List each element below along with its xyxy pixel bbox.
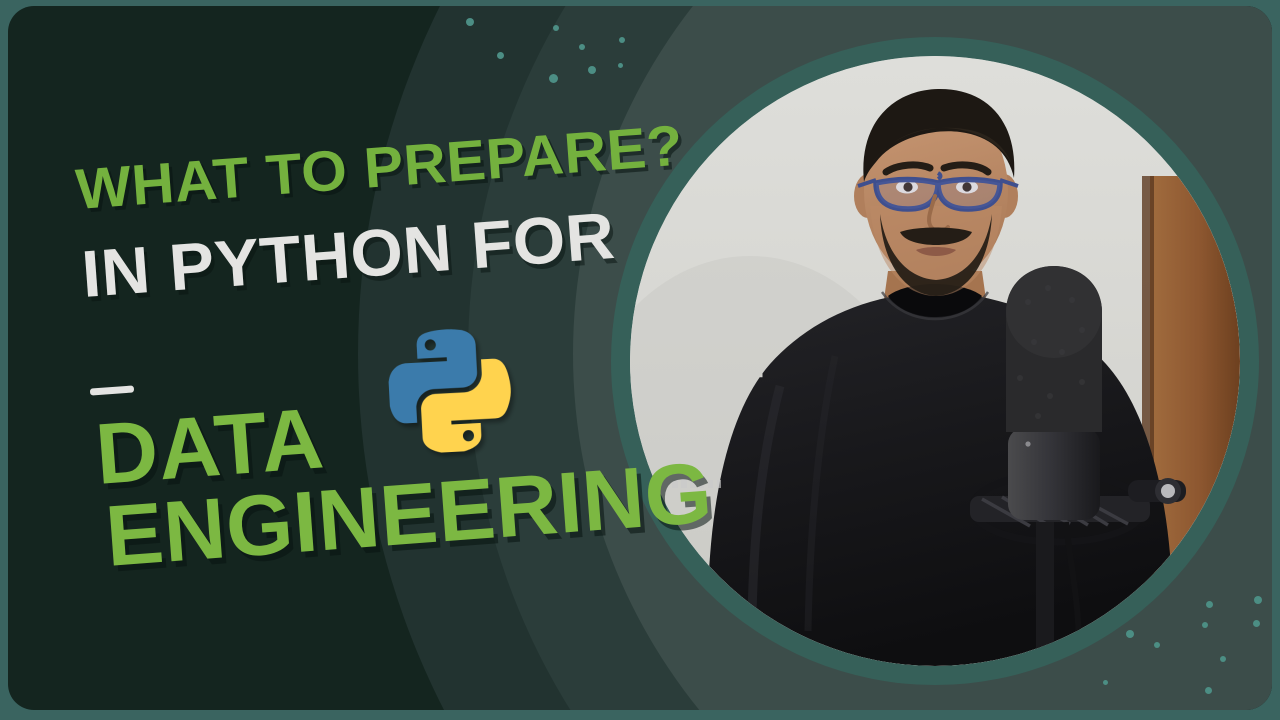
- decorative-dot: [1103, 680, 1108, 685]
- decorative-dot: [1205, 687, 1212, 694]
- python-logo: [386, 321, 515, 455]
- decorative-dot: [553, 25, 559, 31]
- thumbnail-panel: WHAT TO PREPARE? IN PYTHON FOR DATA ENGI…: [8, 6, 1272, 710]
- headline-line-1: WHAT TO PREPARE?: [74, 120, 685, 217]
- presenter-photo: [630, 56, 1240, 666]
- dash-separator: [90, 385, 134, 395]
- decorative-dot: [1202, 622, 1208, 628]
- headline-line-2: IN PYTHON FOR: [80, 205, 617, 305]
- decorative-dot: [1254, 596, 1262, 604]
- thumbnail-canvas: WHAT TO PREPARE? IN PYTHON FOR DATA ENGI…: [0, 0, 1280, 720]
- headline-block: WHAT TO PREPARE? IN PYTHON FOR DATA ENGI…: [8, 6, 668, 710]
- decorative-dot: [1126, 630, 1134, 638]
- decorative-dot: [618, 63, 623, 68]
- decorative-dot: [497, 52, 504, 59]
- decorative-dot: [1154, 642, 1160, 648]
- headline-line-4: ENGINEERING: [103, 454, 715, 577]
- decorative-dot: [1253, 620, 1260, 627]
- decorative-dot: [549, 74, 558, 83]
- decorative-dot: [619, 37, 625, 43]
- decorative-dot: [579, 44, 585, 50]
- decorative-dot: [466, 18, 474, 26]
- headline-line-3: DATA: [93, 399, 326, 495]
- decorative-dot: [1206, 601, 1213, 608]
- decorative-dot: [588, 66, 596, 74]
- decorative-dot: [1220, 656, 1226, 662]
